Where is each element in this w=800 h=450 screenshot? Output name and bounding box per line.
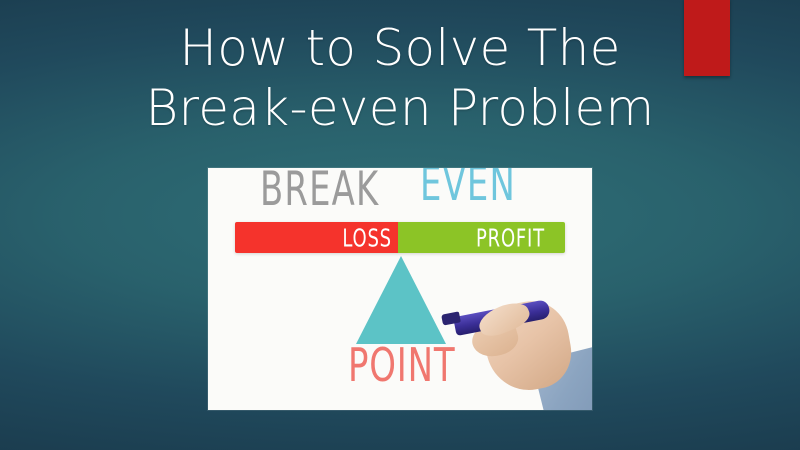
illustration-word-break: BREAK <box>260 168 379 213</box>
page-title-line-1: How to Solve The <box>0 18 800 78</box>
illustration-word-point: POINT <box>348 342 455 388</box>
page-title-line-2: Break-even Problem <box>0 78 800 138</box>
bar-segment-loss: LOSS <box>235 222 398 253</box>
bar-label-loss: LOSS <box>342 225 392 250</box>
illustration-word-even: EVEN <box>420 168 516 208</box>
bar-segment-profit: PROFIT <box>398 222 565 253</box>
loss-profit-bar: LOSS PROFIT <box>235 222 565 253</box>
break-even-triangle-marker <box>356 256 446 344</box>
page-title: How to Solve The Break-even Problem <box>0 18 800 138</box>
presentation-slide: How to Solve The Break-even Problem BREA… <box>0 0 800 450</box>
hand-with-marker-illustration <box>452 286 592 410</box>
bar-label-profit: PROFIT <box>476 225 545 250</box>
break-even-illustration: BREAK EVEN LOSS PROFIT POINT <box>208 168 592 410</box>
